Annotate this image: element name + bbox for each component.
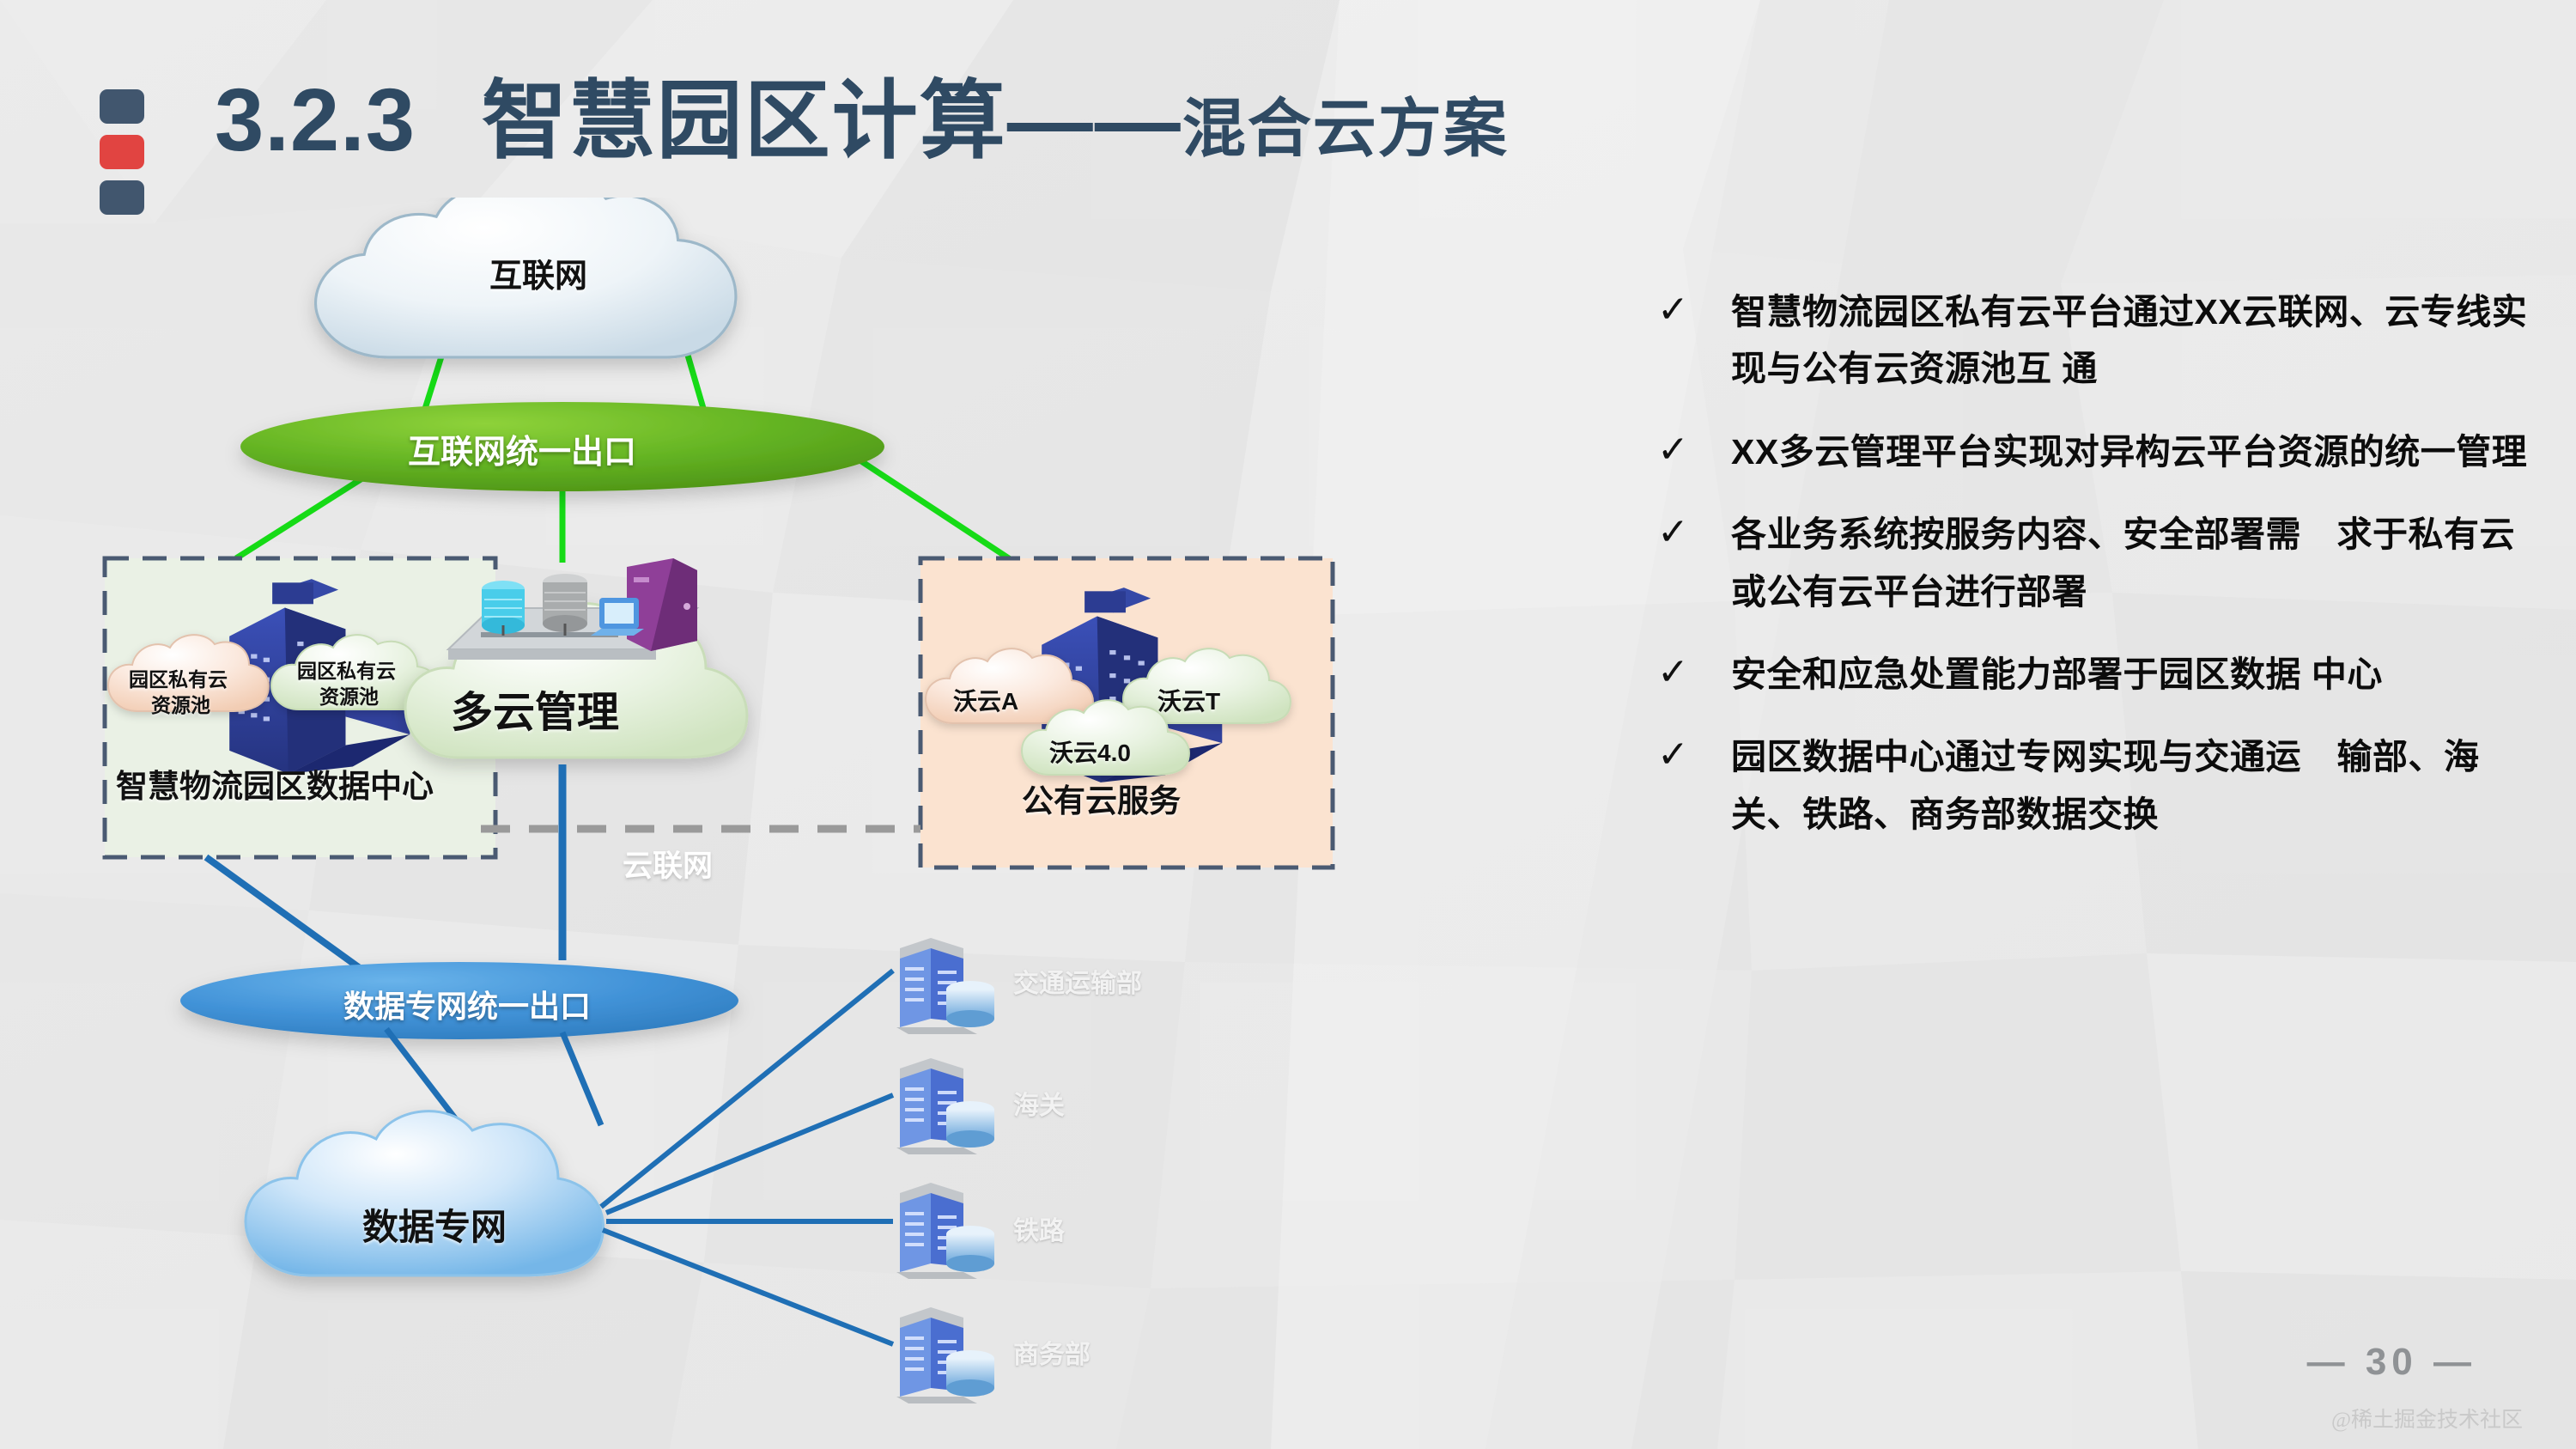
key-points-list: ✓ 智慧物流园区私有云平台通过XX云联网、云专线实现与公有云资源池互 通 ✓ X… <box>1657 283 2533 868</box>
page-number: — 30 — <box>2307 1341 2476 1384</box>
data-network-cloud-shape <box>246 1111 604 1275</box>
bullet-text-5: 园区数据中心通过专网实现与交通运 输部、海关、铁路、商务部数据交换 <box>1731 728 2533 843</box>
slide-header: 3.2.3 智慧园区计算——混合云方案 <box>0 0 2576 198</box>
label-private-pool-right-line1: 园区私有云 <box>297 654 396 684</box>
check-icon-5: ✓ <box>1657 728 1731 843</box>
label-data-network-exit: 数据专网统一出口 <box>343 982 591 1026</box>
label-multicloud-management: 多云管理 <box>451 679 619 740</box>
endpoint-server-2 <box>896 1058 994 1154</box>
endpoint-server-3 <box>896 1183 994 1279</box>
bullet-text-4: 安全和应急处置能力部署于园区数据 中心 <box>1731 646 2533 703</box>
mark-top <box>100 89 144 124</box>
bullet-item-1: ✓ 智慧物流园区私有云平台通过XX云联网、云专线实现与公有云资源池互 通 <box>1657 283 2533 398</box>
check-icon-3: ✓ <box>1657 506 1731 620</box>
title-number: 3.2.3 <box>215 70 416 169</box>
label-public-cloud-a: 沃云A <box>953 683 1018 717</box>
endpoint-server-4 <box>896 1307 994 1403</box>
label-public-cloud-40: 沃云4.0 <box>1049 734 1131 769</box>
label-data-network: 数据专网 <box>362 1198 507 1251</box>
mark-bottom <box>100 180 144 215</box>
bullet-text-2: XX多云管理平台实现对异构云平台资源的统一管理 <box>1731 423 2533 480</box>
storage-cylinder-icon <box>543 574 587 636</box>
label-endpoint-3: 铁路 <box>1013 1209 1065 1247</box>
title-decoration-marks <box>100 89 146 226</box>
database-cylinder-icon <box>482 581 525 636</box>
check-icon-1: ✓ <box>1657 283 1731 398</box>
check-icon-4: ✓ <box>1657 646 1731 703</box>
bullet-item-4: ✓ 安全和应急处置能力部署于园区数据 中心 <box>1657 646 2533 703</box>
label-internet-exit: 互联网统一出口 <box>408 425 636 472</box>
bullet-item-3: ✓ 各业务系统按服务内容、安全部署需 求于私有云或公有云平台进行部署 <box>1657 506 2533 620</box>
bullet-item-2: ✓ XX多云管理平台实现对异构云平台资源的统一管理 <box>1657 423 2533 480</box>
check-icon-2: ✓ <box>1657 423 1731 480</box>
endpoint-server-1 <box>896 938 994 1034</box>
label-private-pool-left-line1: 园区私有云 <box>129 663 228 692</box>
label-endpoint-2: 海关 <box>1013 1084 1065 1122</box>
link-privatedc-to-datanet-exit <box>206 857 369 975</box>
label-private-pool-left-line2: 资源池 <box>151 689 210 718</box>
label-endpoint-4: 商务部 <box>1013 1333 1091 1371</box>
hybrid-cloud-architecture-diagram: 互联网 互联网统一出口 多云管理 园区私有云 资源池 园区私有云 资源池 智慧物… <box>0 198 1631 1449</box>
mark-middle <box>100 135 144 169</box>
label-cloud-network: 云联网 <box>623 842 713 886</box>
watermark: @稀土掘金技术社区 <box>2331 1403 2523 1434</box>
title-subtitle: 混合云方案 <box>1182 93 1509 164</box>
label-public-cloud-t: 沃云T <box>1157 683 1220 717</box>
page-title: 3.2.3 智慧园区计算——混合云方案 <box>215 76 1509 164</box>
label-internet-cloud: 互联网 <box>489 249 587 296</box>
bullet-text-3: 各业务系统按服务内容、安全部署需 求于私有云或公有云平台进行部署 <box>1731 506 2533 620</box>
label-public-cloud-service: 公有云服务 <box>1022 775 1181 821</box>
title-main: 智慧园区计算—— <box>482 73 1182 169</box>
bullet-text-1: 智慧物流园区私有云平台通过XX云联网、云专线实现与公有云资源池互 通 <box>1731 283 2533 398</box>
diagram-canvas <box>0 198 1631 1449</box>
label-private-pool-right-line2: 资源池 <box>319 680 379 709</box>
label-private-datacenter: 智慧物流园区数据中心 <box>116 760 434 807</box>
label-endpoint-1: 交通运输部 <box>1013 962 1142 1000</box>
bullet-item-5: ✓ 园区数据中心通过专网实现与交通运 输部、海关、铁路、商务部数据交换 <box>1657 728 2533 843</box>
